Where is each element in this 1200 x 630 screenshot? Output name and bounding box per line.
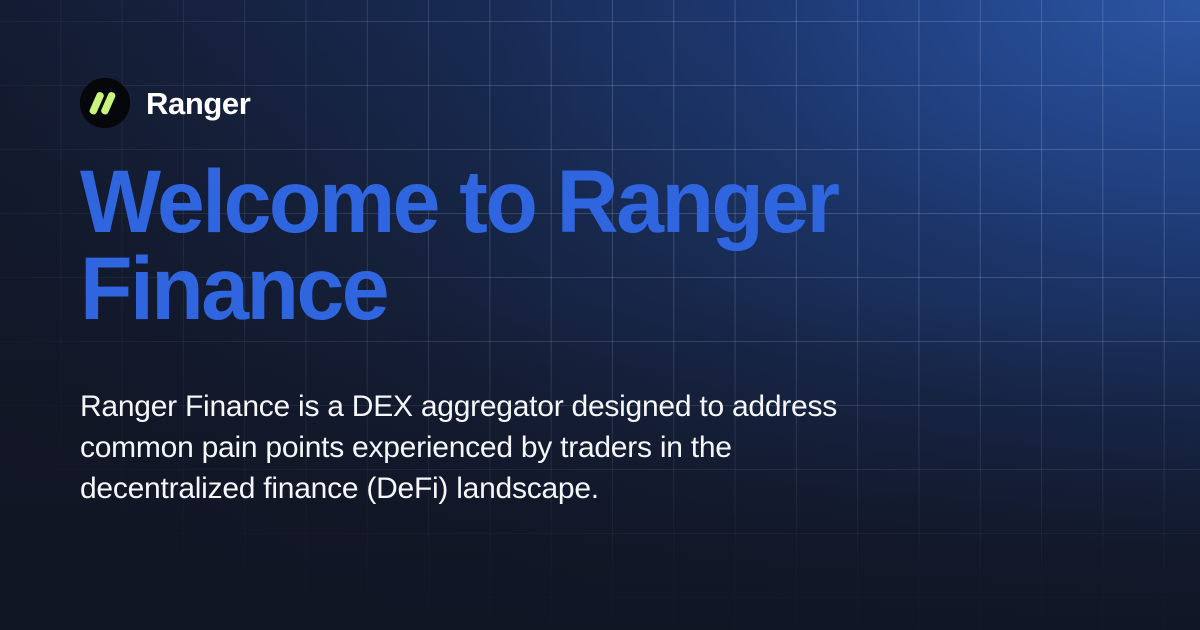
double-slash-icon — [80, 78, 130, 128]
card-content: Ranger Welcome to Ranger Finance Ranger … — [80, 0, 1120, 630]
page-description: Ranger Finance is a DEX aggregator desig… — [80, 386, 870, 509]
brand-lockup: Ranger — [80, 78, 250, 128]
brand-name: Ranger — [146, 88, 250, 119]
og-card: Ranger Welcome to Ranger Finance Ranger … — [0, 0, 1200, 630]
page-title: Welcome to Ranger Finance — [80, 158, 1006, 332]
